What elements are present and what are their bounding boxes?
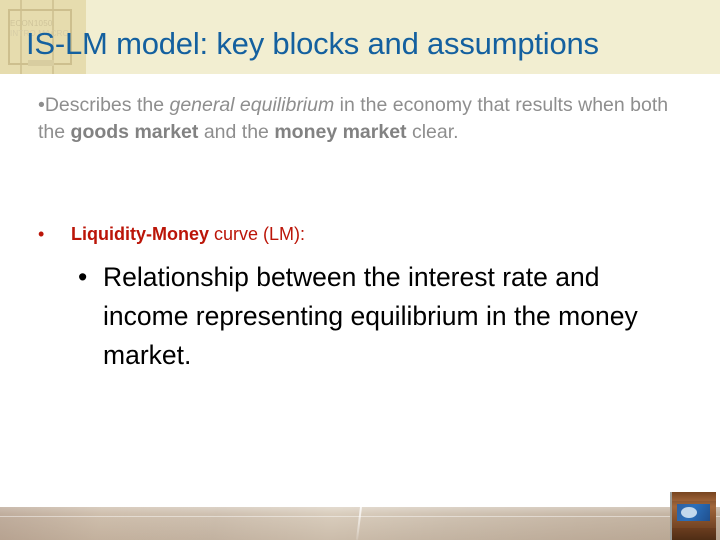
lm-bullet-marker: •	[38, 222, 44, 246]
thumbnail-shelf-bottom	[672, 528, 716, 540]
body-content: •Describes the general equilibrium in th…	[38, 92, 704, 146]
lm-curve-bullet: • Liquidity-Money curve (LM):	[38, 222, 698, 246]
footer-shade	[0, 507, 210, 540]
lead-segment-5: and the	[198, 121, 274, 143]
thumbnail-shelf-top	[672, 492, 716, 501]
lm-bullet-rest-label: curve (LM):	[209, 224, 305, 244]
header-divider	[0, 74, 720, 76]
footer-photo-strip	[0, 507, 720, 540]
lead-segment-7: clear.	[407, 121, 459, 143]
lm-definition-bullet-marker: •	[78, 258, 87, 297]
lead-segment-money-market: money market	[274, 121, 406, 143]
lm-bullet-bold-label: Liquidity-Money	[71, 224, 209, 244]
lead-paragraph: •Describes the general equilibrium in th…	[38, 92, 698, 146]
lm-definition-bullet: • Relationship between the interest rate…	[78, 258, 688, 375]
lead-segment-goods-market: goods market	[71, 121, 199, 143]
thumbnail-screen-highlight	[681, 507, 697, 518]
lm-definition-text: Relationship between the interest rate a…	[103, 258, 688, 375]
footer-diagonal-seam	[356, 507, 362, 540]
lead-segment-1: Describes the	[45, 94, 170, 116]
lm-bullet-text: Liquidity-Money curve (LM):	[71, 222, 698, 246]
lead-bullet-marker: •	[38, 94, 45, 116]
corner-thumbnail-photo	[670, 492, 716, 540]
slide-root: ECON1050: INTRO MACRO IS-LM model: key b…	[0, 0, 720, 540]
lead-segment-italic: general equilibrium	[169, 94, 334, 116]
page-title: IS-LM model: key blocks and assumptions	[26, 26, 716, 62]
